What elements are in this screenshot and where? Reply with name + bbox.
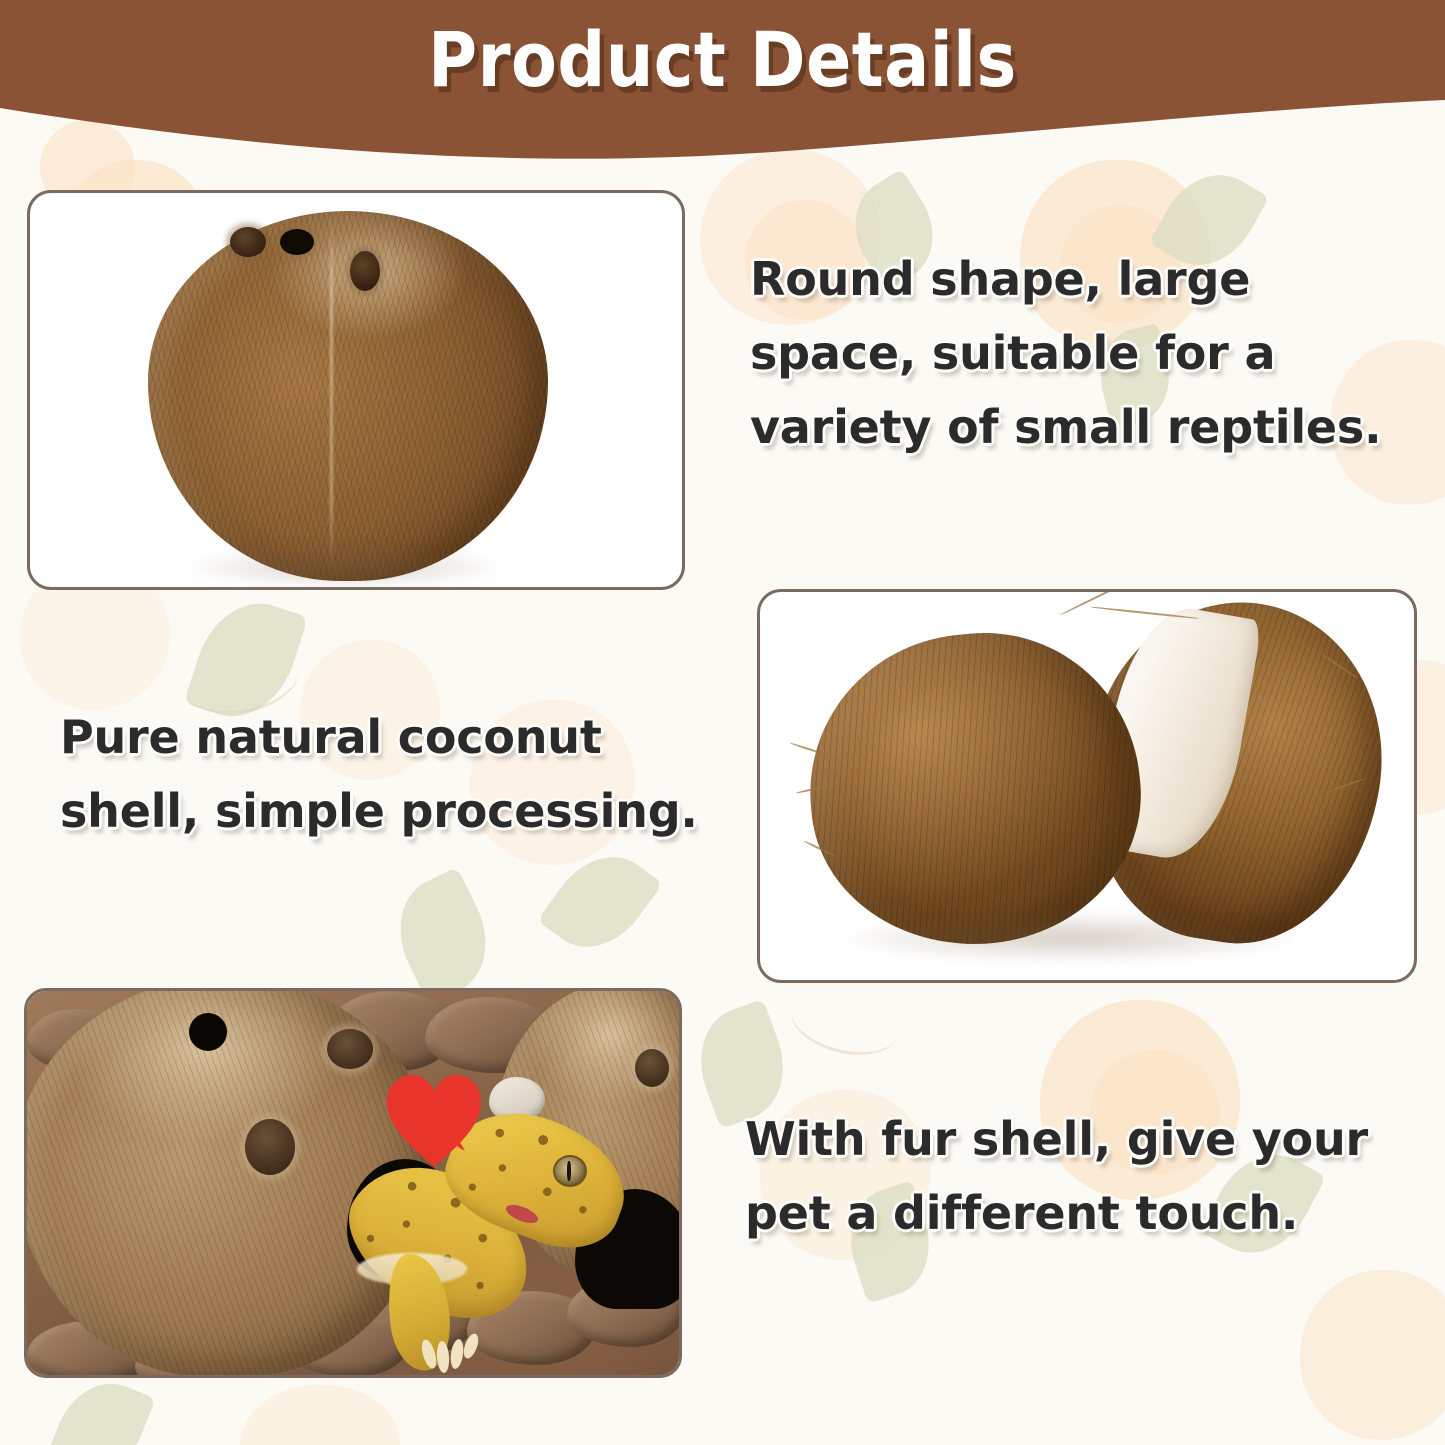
- feature-caption-pure-natural: Pure natural coconut shell, simple proce…: [60, 700, 720, 848]
- product-photo-gecko-terrarium: [27, 991, 679, 1375]
- product-photo-card-pure-natural: [757, 589, 1417, 983]
- gecko-pupil: [567, 1161, 571, 1181]
- watermark-blob: [1300, 1270, 1445, 1440]
- product-photo-coconut-dome: [30, 193, 682, 587]
- product-photo-coconut-pair: [760, 592, 1414, 980]
- heart-sticker-icon: [379, 1067, 489, 1173]
- caption-line: variety of small reptiles.: [750, 390, 1440, 464]
- caption-line: With fur shell, give your: [745, 1102, 1405, 1176]
- coconut-eye-dimple: [635, 1049, 669, 1087]
- caption-line: pet a different touch.: [745, 1176, 1405, 1250]
- feature-caption-round-shape: Round shape, large space, suitable for a…: [750, 242, 1440, 464]
- watermark-stem: [784, 978, 906, 1066]
- product-photo-card-fur-shell: [24, 988, 682, 1378]
- coconut-ventilation-hole: [189, 1013, 227, 1051]
- coconut-entry-hole: [280, 229, 314, 255]
- feature-caption-fur-shell: With fur shell, give your pet a differen…: [745, 1102, 1405, 1250]
- caption-line: space, suitable for a: [750, 316, 1440, 390]
- caption-line: Round shape, large: [750, 242, 1440, 316]
- coconut-whole-image: [795, 618, 1156, 961]
- coconut-seam: [330, 219, 333, 569]
- coconut-eye-dimple: [327, 1029, 373, 1069]
- watermark-leaf-icon: [44, 1369, 156, 1445]
- photo-drop-shadow: [180, 545, 510, 587]
- coconut-eye-dimple: [245, 1119, 295, 1175]
- caption-line: shell, simple processing.: [60, 774, 720, 848]
- coconut-eye-dimple: [230, 227, 266, 257]
- header-band-brown: [0, 0, 1445, 159]
- coconut-fiber-texture: [795, 618, 1156, 961]
- watermark-blob: [240, 1385, 400, 1445]
- coconut-shell-image: [148, 211, 548, 581]
- watermark-leaf-icon: [380, 867, 506, 1005]
- gecko-eye: [553, 1155, 587, 1187]
- coconut-fiber-texture: [148, 211, 548, 581]
- product-photo-card-round-shape: [27, 190, 685, 590]
- photo-drop-shadow: [830, 912, 1310, 964]
- coconut-fiber-strand: [1060, 592, 1142, 616]
- coconut-eye-dimple: [350, 251, 380, 291]
- product-details-infographic: Product Details: [0, 0, 1445, 1445]
- header-banner: [0, 0, 1445, 175]
- caption-line: Pure natural coconut: [60, 700, 720, 774]
